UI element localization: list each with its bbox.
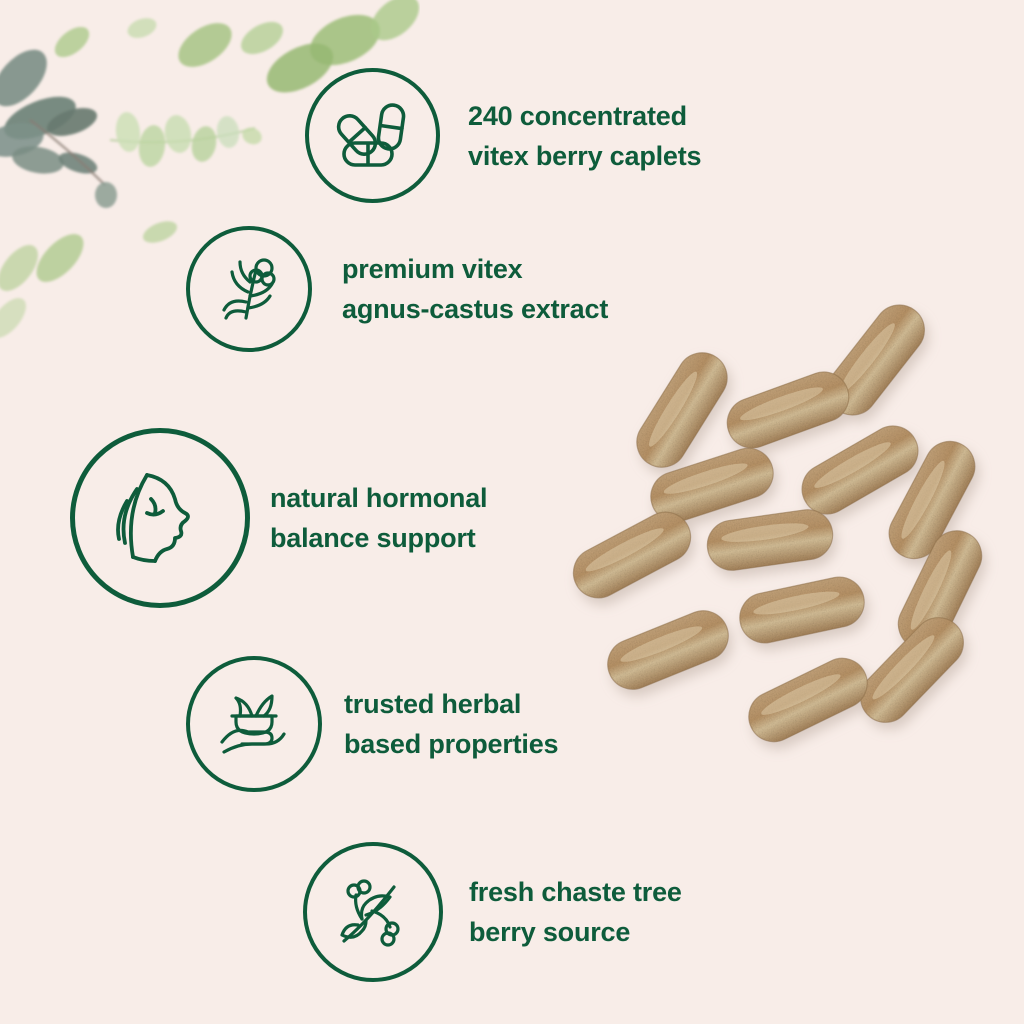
feature-label: trusted herbal based properties: [344, 684, 558, 764]
capsules-icon: [305, 68, 440, 203]
infographic-canvas: 240 concentrated vitex berry caplets pre…: [0, 0, 1024, 1024]
feature-row-premium-extract: premium vitex agnus-castus extract: [186, 226, 608, 352]
berry-branch-icon: [303, 842, 443, 982]
feature-label: fresh chaste tree berry source: [469, 872, 682, 952]
feature-label: natural hormonal balance support: [270, 478, 487, 558]
herb-branch-icon: [186, 226, 312, 352]
feature-row-hormonal-balance: natural hormonal balance support: [70, 428, 487, 608]
feature-label: premium vitex agnus-castus extract: [342, 249, 608, 329]
feature-row-berry-source: fresh chaste tree berry source: [303, 842, 682, 982]
feature-row-caplet-count: 240 concentrated vitex berry caplets: [305, 68, 701, 203]
feature-row-herbal-properties: trusted herbal based properties: [186, 656, 558, 792]
feature-label: 240 concentrated vitex berry caplets: [468, 96, 701, 176]
hand-holding-mortar-icon: [186, 656, 322, 792]
vitex-berry-caplets-pile: [560, 300, 1024, 800]
woman-face-profile-icon: [70, 428, 250, 608]
